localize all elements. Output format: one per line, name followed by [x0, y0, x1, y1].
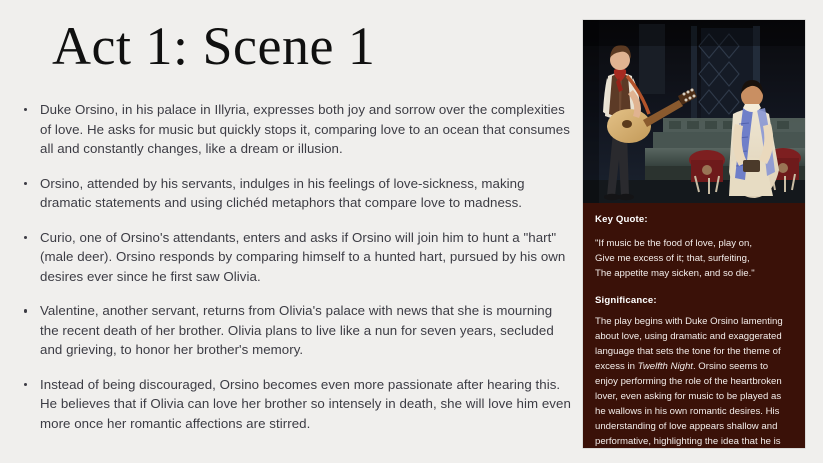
- significance-text-part2: . Orsino seems to enjoy performing the r…: [595, 361, 782, 448]
- presentation-slide: Act 1: Scene 1 Duke Orsino, in his palac…: [0, 0, 823, 463]
- bullet-text: Orsino, attended by his servants, indulg…: [40, 176, 525, 211]
- bullet-text: Valentine, another servant, returns from…: [40, 303, 554, 357]
- list-item: Valentine, another servant, returns from…: [16, 301, 572, 360]
- significance-heading: Significance:: [595, 295, 793, 306]
- significance-text: The play begins with Duke Orsino lamenti…: [595, 315, 793, 448]
- key-quote-heading: Key Quote:: [595, 214, 793, 225]
- list-item: Curio, one of Orsino's attendants, enter…: [16, 228, 572, 287]
- list-item: Instead of being discouraged, Orsino bec…: [16, 375, 572, 434]
- panel-text-content: Key Quote: "If music be the food of love…: [583, 203, 805, 448]
- bullet-text: Curio, one of Orsino's attendants, enter…: [40, 230, 565, 284]
- bullet-text: Instead of being discouraged, Orsino bec…: [40, 377, 571, 431]
- bullet-text: Duke Orsino, in his palace in Illyria, e…: [40, 102, 570, 156]
- summary-bullet-list: Duke Orsino, in his palace in Illyria, e…: [16, 100, 572, 433]
- play-title-italic: Twelfth Night: [638, 361, 693, 372]
- page-title: Act 1: Scene 1: [52, 18, 375, 75]
- stage-production-photo: [583, 20, 805, 203]
- key-quote-text: "If music be the food of love, play on, …: [595, 236, 793, 281]
- stage-photo-illustration: [583, 20, 805, 203]
- list-item: Duke Orsino, in his palace in Illyria, e…: [16, 100, 572, 159]
- list-item: Orsino, attended by his servants, indulg…: [16, 174, 572, 213]
- key-quote-panel: Key Quote: "If music be the food of love…: [583, 20, 805, 448]
